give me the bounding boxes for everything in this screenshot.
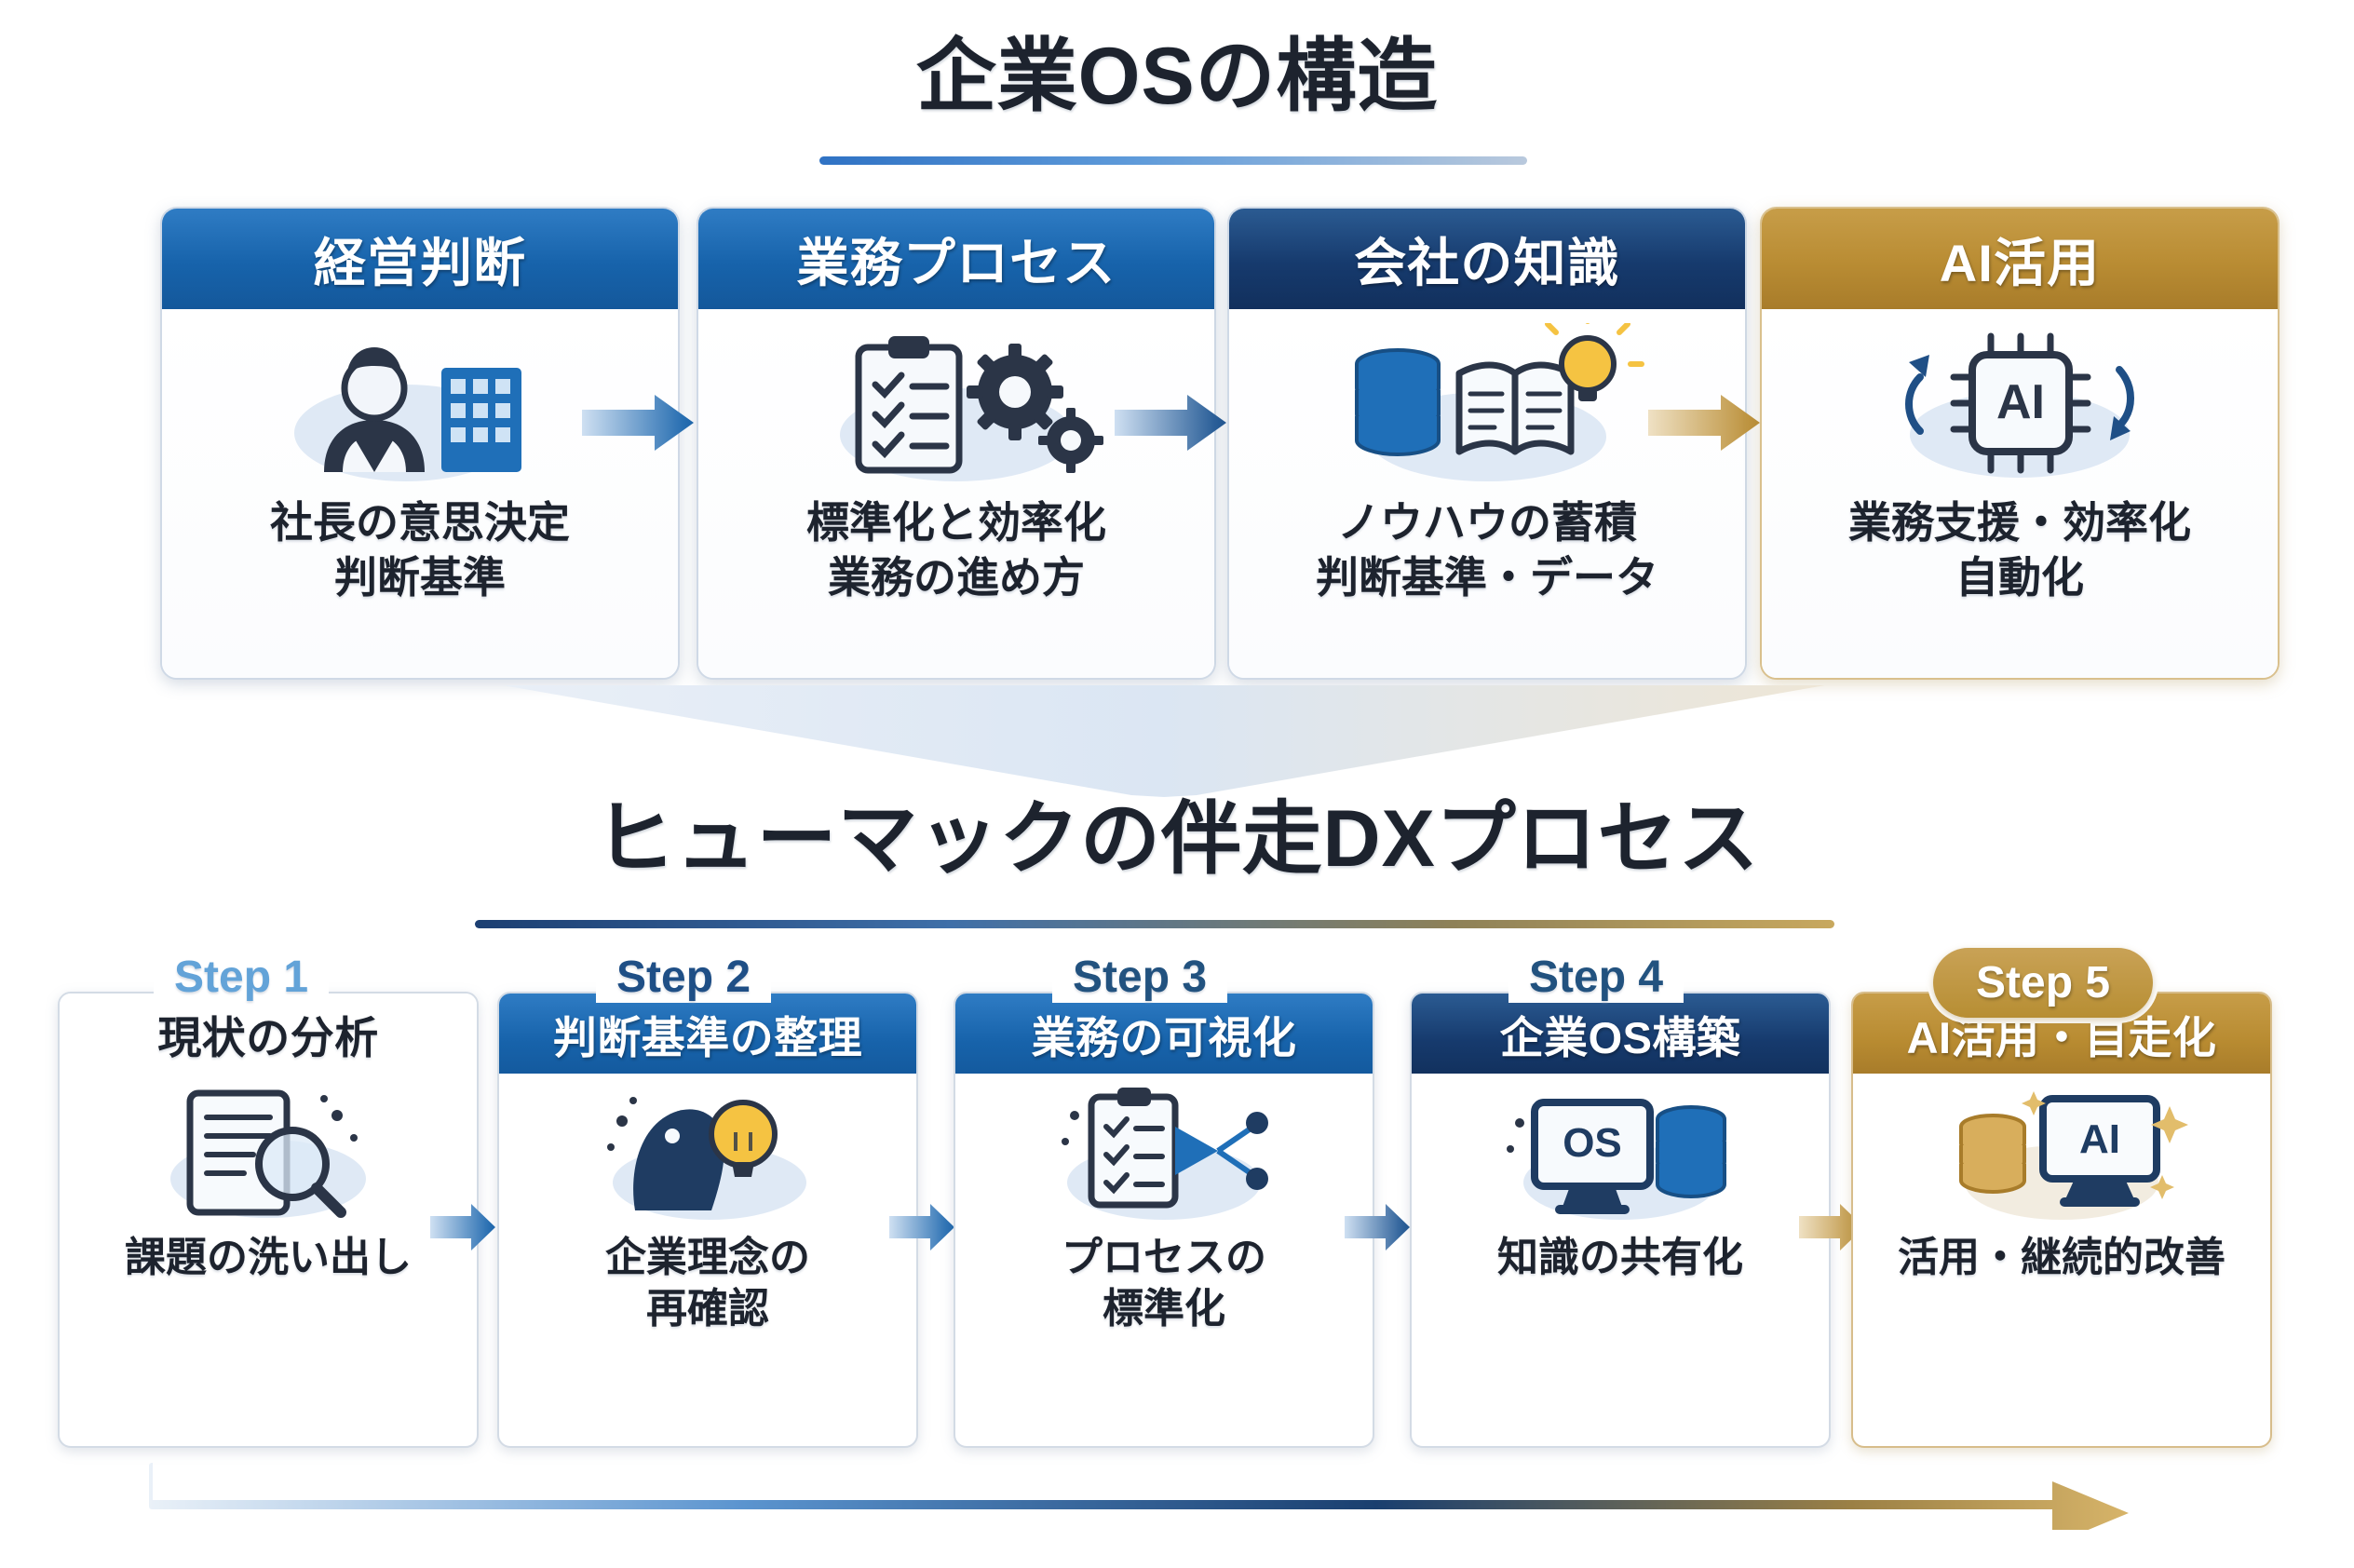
- os-card-caption-line1: ノウハウの蓄積: [1337, 495, 1637, 550]
- arrow-right-icon: [582, 391, 694, 454]
- os-card-header: 業務プロセス: [698, 209, 1214, 309]
- ai-screen-coins-icon: AI: [1853, 1074, 2270, 1232]
- process-section-title-underline: [475, 920, 1834, 928]
- svg-text:AI: AI: [1996, 375, 2045, 429]
- os-card-body: 標準化と効率化 業務の進め方: [698, 309, 1214, 678]
- process-section-title-wrap: ヒューマックの伴走DXプロセス: [0, 796, 2354, 883]
- os-card-header: AI活用: [1762, 209, 2278, 309]
- step-number-4: Step 4: [1508, 952, 1684, 1003]
- step-card-body: 企業理念の 再確認: [499, 1074, 916, 1446]
- os-card-caption-line1: 社長の意思決定: [270, 495, 570, 550]
- step-card-header: 業務の可視化: [955, 994, 1373, 1074]
- step-number-2: Step 2: [596, 952, 771, 1003]
- step-card-body: プロセスの 標準化: [955, 1074, 1373, 1446]
- os-card-body: AI 業務支援・効率化 自動化: [1762, 309, 2278, 678]
- os-card-caption-line2: 判断基準・データ: [1316, 550, 1658, 605]
- step-card-body: 課題の洗い出し: [60, 1074, 477, 1446]
- step-card-caption-line1: 活用・継続的改善: [1898, 1232, 2225, 1283]
- infographic-canvas: 企業OSの構造 経営判断: [0, 0, 2354, 1568]
- os-card-caption-line2: 判断基準: [334, 550, 506, 605]
- os-card-caption-line1: 標準化と効率化: [806, 495, 1106, 550]
- step-number-3: Step 3: [1052, 952, 1227, 1003]
- os-section-title-underline: [819, 156, 1527, 165]
- os-card-caption-line2: 業務の進め方: [828, 550, 1085, 605]
- step-card-header: 判断基準の整理: [499, 994, 916, 1074]
- os-section-title: 企業OSの構造: [0, 34, 2354, 120]
- step-card-caption-line2: 再確認: [646, 1283, 769, 1334]
- os-card-caption-line1: 業務支援・効率化: [1848, 495, 2191, 550]
- process-section-title: ヒューマックの伴走DXプロセス: [0, 796, 2354, 883]
- os-card-ai-katsuyo[interactable]: AI活用 AI: [1760, 207, 2280, 680]
- arrow-right-icon: [1115, 391, 1226, 454]
- arrow-right-icon: [1648, 391, 1760, 454]
- os-section-title-wrap: 企業OSの構造: [0, 34, 2354, 120]
- step-card-header: 企業OS構築: [1412, 994, 1829, 1074]
- os-monitor-database-icon: OS: [1412, 1074, 1829, 1232]
- step-card-2[interactable]: 判断基準の整理 企業理念の 再確認: [497, 992, 918, 1448]
- document-magnifier-icon: [60, 1074, 477, 1232]
- step-card-4[interactable]: 企業OS構築 OS 知識の共有化: [1410, 992, 1831, 1448]
- step-number-1: Step 1: [154, 952, 329, 1003]
- step-card-caption-line1: 企業理念の: [605, 1232, 810, 1283]
- os-card-header: 経営判断: [162, 209, 678, 309]
- clipboard-flow-icon: [955, 1074, 1373, 1232]
- os-card-header: 会社の知識: [1229, 209, 1745, 309]
- arrow-right-icon: [1345, 1201, 1410, 1253]
- step-card-caption-line1: 課題の洗い出し: [125, 1232, 412, 1283]
- step-card-header: 現状の分析: [60, 994, 477, 1074]
- head-lightbulb-icon: [499, 1074, 916, 1232]
- os-card-caption-line2: 自動化: [1955, 550, 2084, 605]
- step-number-5: Step 5: [1933, 948, 2153, 1018]
- os-card-body: 社長の意思決定 判断基準: [162, 309, 678, 678]
- step-card-body: AI 活用・継続的改善: [1853, 1074, 2270, 1446]
- step-card-1[interactable]: 現状の分析 課題の洗い出し: [58, 992, 479, 1448]
- funnel-chevron-icon: [503, 685, 1825, 797]
- svg-text:OS: OS: [1563, 1120, 1622, 1166]
- ai-chip-icon: AI: [1762, 318, 2278, 495]
- step-card-caption-line1: プロセスの: [1062, 1232, 1266, 1283]
- os-card-body: ノウハウの蓄積 判断基準・データ: [1229, 309, 1745, 678]
- step-card-caption-line2: 標準化: [1103, 1283, 1225, 1334]
- arrow-right-icon: [889, 1201, 954, 1253]
- step-card-3[interactable]: 業務の可視化 プロセスの: [954, 992, 1374, 1448]
- step-card-body: OS 知識の共有化: [1412, 1074, 1829, 1446]
- svg-text:AI: AI: [2079, 1116, 2120, 1162]
- step-card-5[interactable]: AI活用・自走化 AI: [1851, 992, 2272, 1448]
- progress-arrow-icon: [149, 1457, 2132, 1530]
- step-card-caption-line1: 知識の共有化: [1497, 1232, 1743, 1283]
- arrow-right-icon: [430, 1201, 495, 1253]
